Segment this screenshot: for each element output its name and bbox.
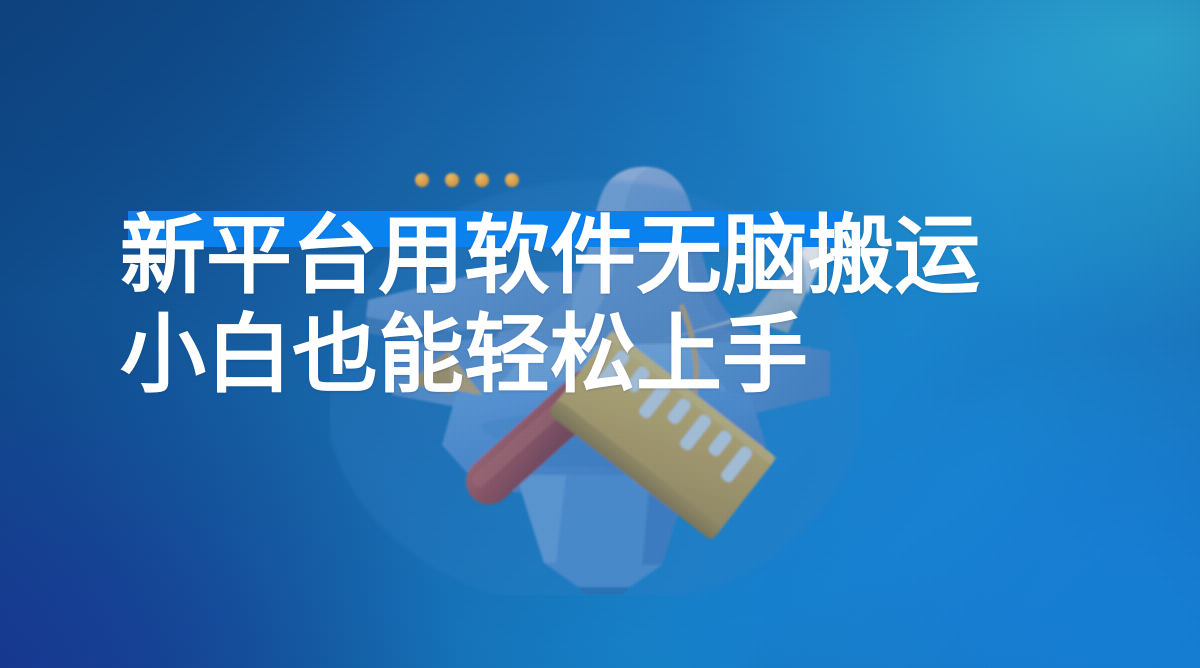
headline-line-2: 小白也能轻松上手 bbox=[120, 305, 1060, 406]
headline-line-1: 新平台用软件无脑搬运 bbox=[120, 206, 1060, 307]
cover-canvas: 新平台用软件无脑搬运 小白也能轻松上手 bbox=[0, 0, 1200, 668]
orange-dot-row bbox=[415, 173, 519, 187]
headline-block: 新平台用软件无脑搬运 小白也能轻松上手 bbox=[120, 206, 1060, 407]
